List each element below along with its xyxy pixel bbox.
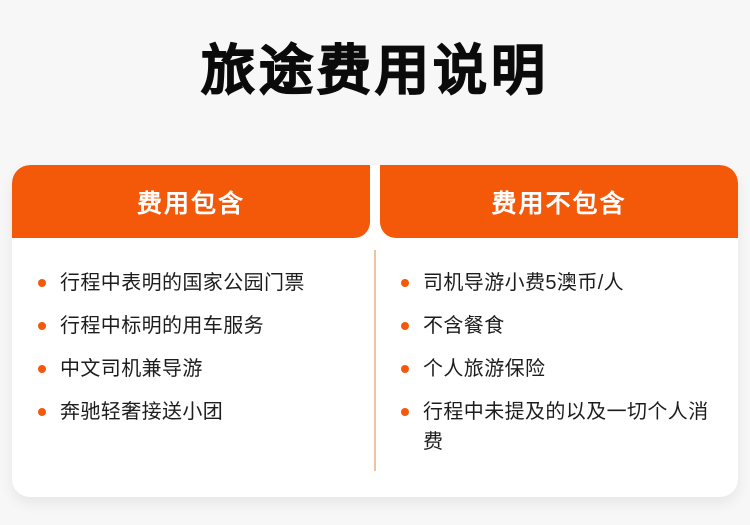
bullet-icon [401,322,409,330]
bullet-icon [38,322,46,330]
bullet-icon [401,279,409,287]
column-divider [375,250,376,471]
list-item-label: 行程中表明的国家公园门票 [60,272,305,294]
list-item: 司机导游小费5澳币/人 [401,268,724,298]
fees-card: 费用包含 费用不包含 行程中表明的国家公园门票 行程中标明的用车服务 中文司机兼… [12,165,738,497]
column-header-excluded: 费用不包含 [380,165,738,238]
list-item-label: 奔驰轻奢接送小团 [60,401,223,423]
bullet-icon [38,365,46,373]
list-item-label: 不含餐食 [423,315,505,337]
fee-list-included: 行程中表明的国家公园门票 行程中标明的用车服务 中文司机兼导游 奔驰轻奢接送小团 [38,268,361,427]
list-item: 行程中标明的用车服务 [38,311,361,341]
list-item-label: 司机导游小费5澳币/人 [423,272,624,294]
bullet-icon [38,279,46,287]
list-item-label: 个人旅游保险 [423,358,545,380]
bullet-icon [401,408,409,416]
list-item: 不含餐食 [401,311,724,341]
fee-list-excluded: 司机导游小费5澳币/人 不含餐食 个人旅游保险 行程中未提及的以及一切个人消费 [401,268,724,457]
bullet-icon [401,365,409,373]
list-item: 个人旅游保险 [401,354,724,384]
list-item: 行程中未提及的以及一切个人消费 [401,397,724,457]
fees-body-row: 行程中表明的国家公园门票 行程中标明的用车服务 中文司机兼导游 奔驰轻奢接送小团 [12,238,738,497]
fee-column-excluded: 司机导游小费5澳币/人 不含餐食 个人旅游保险 行程中未提及的以及一切个人消费 [375,238,738,497]
list-item-label: 行程中标明的用车服务 [60,315,264,337]
list-item-label: 中文司机兼导游 [60,358,203,380]
list-item-label: 行程中未提及的以及一切个人消费 [423,401,709,453]
column-header-included: 费用包含 [12,165,370,238]
list-item: 奔驰轻奢接送小团 [38,397,361,427]
bullet-icon [38,408,46,416]
fees-header-row: 费用包含 费用不包含 [12,165,738,238]
list-item: 中文司机兼导游 [38,354,361,384]
fee-column-included: 行程中表明的国家公园门票 行程中标明的用车服务 中文司机兼导游 奔驰轻奢接送小团 [12,238,375,497]
list-item: 行程中表明的国家公园门票 [38,268,361,298]
page-title: 旅途费用说明 [0,0,750,98]
